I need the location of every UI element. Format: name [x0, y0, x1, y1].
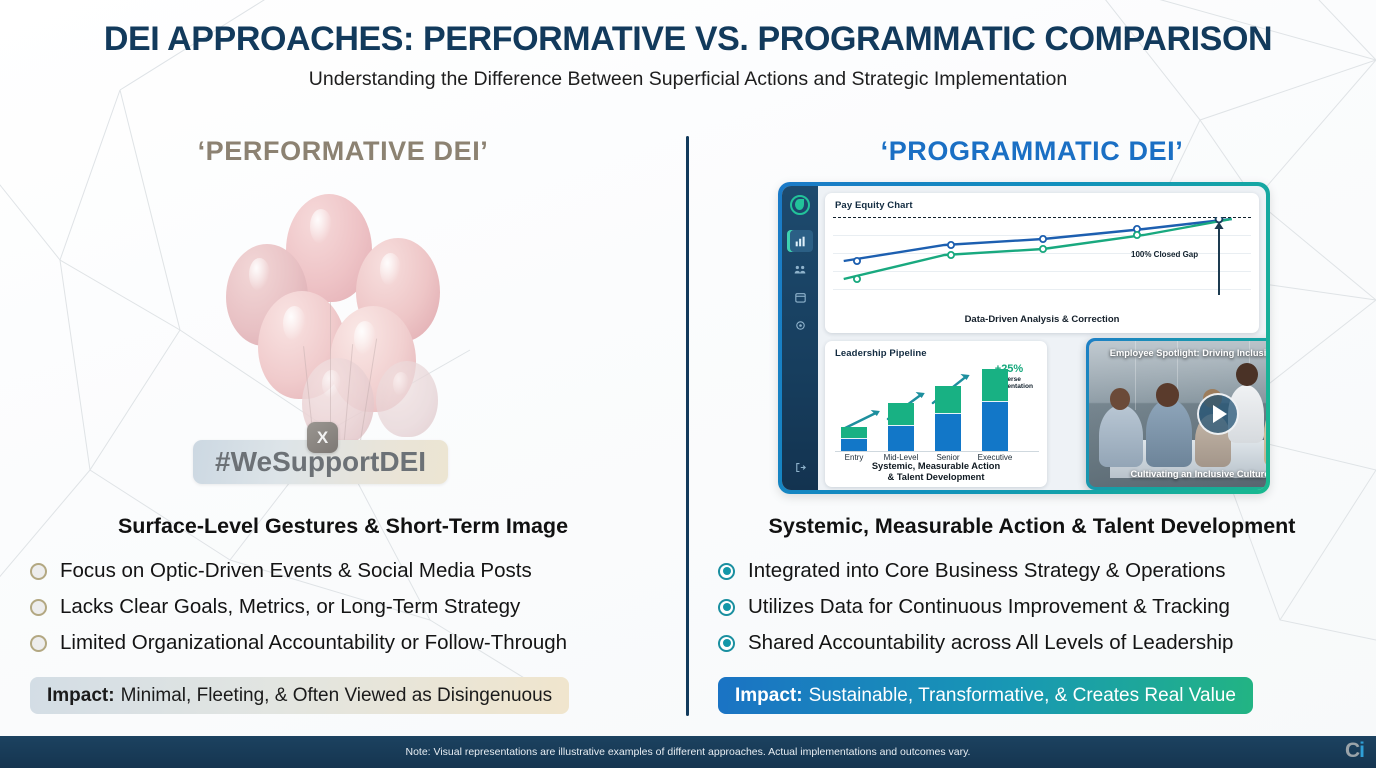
right-subheading: Systemic, Measurable Action & Talent Dev… — [706, 514, 1358, 539]
pay-equity-plot: 100% Closed Gap — [833, 217, 1251, 297]
bar-segment-diverse — [888, 403, 914, 425]
hashtag-badge-group: #WeSupportDEI X — [18, 432, 668, 492]
page-title: DEI APPROACHES: PERFORMATIVE VS. PROGRAM… — [0, 20, 1376, 59]
hollow-circle-icon — [30, 599, 47, 616]
bar-segment-diverse — [982, 369, 1008, 401]
calendar-icon-glyph — [795, 292, 806, 303]
bar-segment-base — [935, 413, 961, 451]
list-item: Lacks Clear Goals, Metrics, or Long-Term… — [30, 589, 668, 625]
leadership-pipeline-title: Leadership Pipeline — [825, 341, 1047, 359]
list-item-label: Shared Accountability across All Levels … — [748, 631, 1233, 655]
left-subheading: Surface-Level Gestures & Short-Term Imag… — [18, 514, 668, 539]
list-item: Shared Accountability across All Levels … — [718, 625, 1358, 661]
right-column-heading: ‘PROGRAMMATIC DEI’ — [706, 136, 1358, 167]
page-subtitle: Understanding the Difference Between Sup… — [0, 68, 1376, 91]
dashboard-mockup: Pay Equity Chart — [778, 182, 1278, 502]
list-item: Utilizes Data for Continuous Improvement… — [718, 589, 1358, 625]
left-bullet-list: Focus on Optic-Driven Events & Social Me… — [18, 553, 668, 661]
people-icon-glyph — [794, 264, 806, 275]
logout-icon[interactable] — [787, 456, 813, 478]
footer-note: Note: Visual representations are illustr… — [406, 746, 971, 758]
bar-segment-base — [841, 438, 867, 451]
filled-circle-icon — [718, 599, 735, 616]
list-item-label: Utilizes Data for Continuous Improvement… — [748, 595, 1230, 619]
analytics-icon-glyph — [795, 236, 806, 247]
list-item: Limited Organizational Accountability or… — [30, 625, 668, 661]
bar-segment-diverse — [935, 386, 961, 413]
person-head — [1110, 388, 1131, 410]
slide-root: DEI APPROACHES: PERFORMATIVE VS. PROGRAM… — [0, 0, 1376, 768]
hollow-circle-icon — [30, 563, 47, 580]
video-title-overlay: Employee Spotlight: Driving Inclusive In… — [1089, 348, 1266, 358]
dashboard-content: Pay Equity Chart — [818, 186, 1266, 490]
list-item-label: Limited Organizational Accountability or… — [60, 631, 567, 655]
analytics-icon[interactable] — [787, 230, 813, 252]
list-item: Focus on Optic-Driven Events & Social Me… — [30, 553, 668, 589]
settings-icon[interactable] — [787, 314, 813, 336]
filled-circle-icon — [718, 563, 735, 580]
left-column-heading: ‘PERFORMATIVE DEI’ — [18, 136, 668, 167]
pay-equity-chart-card: Pay Equity Chart — [825, 193, 1259, 333]
closed-gap-annotation: 100% Closed Gap — [1131, 250, 1198, 259]
logo-letter-i: i — [1359, 739, 1364, 763]
right-bullet-list: Integrated into Core Business Strategy &… — [706, 553, 1358, 661]
person-head — [1156, 383, 1179, 406]
right-impact-label: Impact: — [735, 685, 803, 707]
video-thumbnail: Employee Spotlight: Driving Inclusive In… — [1089, 341, 1266, 487]
logo-letter-c: C — [1345, 739, 1359, 763]
play-icon[interactable] — [1197, 393, 1239, 435]
pipeline-axis — [835, 451, 1039, 452]
list-item: Integrated into Core Business Strategy &… — [718, 553, 1358, 589]
right-impact-text: Sustainable, Transformative, & Creates R… — [809, 685, 1236, 707]
bar-entry — [841, 427, 867, 451]
settings-icon-glyph — [795, 320, 806, 331]
right-column: ‘PROGRAMMATIC DEI’ — [706, 136, 1358, 167]
dashboard-frame: Pay Equity Chart — [778, 182, 1270, 494]
person-figure — [1146, 399, 1192, 466]
pay-equity-chart-xlabel: Data-Driven Analysis & Correction — [825, 314, 1259, 325]
people-icon[interactable] — [787, 258, 813, 280]
left-column: ‘PERFORMATIVE DEI’ #WeSupportDEI X Surfa… — [18, 136, 668, 167]
logo-icon — [790, 195, 810, 215]
x-social-icon[interactable]: X — [307, 422, 338, 453]
list-item-label: Integrated into Core Business Strategy &… — [748, 559, 1225, 583]
bar-segment-diverse — [841, 427, 867, 438]
left-impact-label: Impact: — [47, 685, 115, 707]
balloon-string — [330, 302, 331, 432]
logout-icon-glyph — [795, 462, 806, 473]
leadership-pipeline-plot — [835, 367, 1039, 451]
leadership-pipeline-card: Leadership Pipeline +25% DiverseRepresen… — [825, 341, 1047, 487]
pipeline-caption: Systemic, Measurable Action& Talent Deve… — [825, 461, 1047, 483]
column-divider — [686, 136, 689, 716]
balloon — [376, 361, 438, 437]
header: DEI APPROACHES: PERFORMATIVE VS. PROGRAM… — [0, 20, 1376, 91]
dashboard-sidebar — [782, 186, 818, 490]
footer-bar: Note: Visual representations are illustr… — [0, 736, 1376, 768]
list-item-label: Focus on Optic-Driven Events & Social Me… — [60, 559, 532, 583]
video-bottom-overlay: Cultivating an Inclusive Culture & Voice — [1089, 469, 1266, 479]
person-figure — [1099, 405, 1143, 466]
filled-circle-icon — [718, 635, 735, 652]
pay-equity-chart-title: Pay Equity Chart — [825, 193, 1259, 211]
hollow-circle-icon — [30, 635, 47, 652]
bar-segment-base — [888, 425, 914, 451]
bar-mid-level — [888, 403, 914, 451]
bar-segment-base — [982, 401, 1008, 451]
left-impact-badge: Impact: Minimal, Fleeting, & Often Viewe… — [30, 677, 569, 714]
list-item-label: Lacks Clear Goals, Metrics, or Long-Term… — [60, 595, 520, 619]
left-impact-text: Minimal, Fleeting, & Often Viewed as Dis… — [121, 685, 553, 707]
person-head — [1236, 363, 1258, 386]
play-triangle — [1213, 405, 1227, 423]
right-impact-badge: Impact: Sustainable, Transformative, & C… — [718, 677, 1253, 714]
right-summary-block: Systemic, Measurable Action & Talent Dev… — [706, 514, 1358, 714]
dashboard-inner: Pay Equity Chart — [782, 186, 1266, 490]
left-summary-block: Surface-Level Gestures & Short-Term Imag… — [18, 514, 668, 714]
bar-executive — [982, 369, 1008, 451]
employee-spotlight-video-card[interactable]: Employee Spotlight: Driving Inclusive In… — [1086, 338, 1266, 490]
brand-logo: C i — [1345, 739, 1364, 763]
bar-senior — [935, 386, 961, 451]
calendar-icon[interactable] — [787, 286, 813, 308]
